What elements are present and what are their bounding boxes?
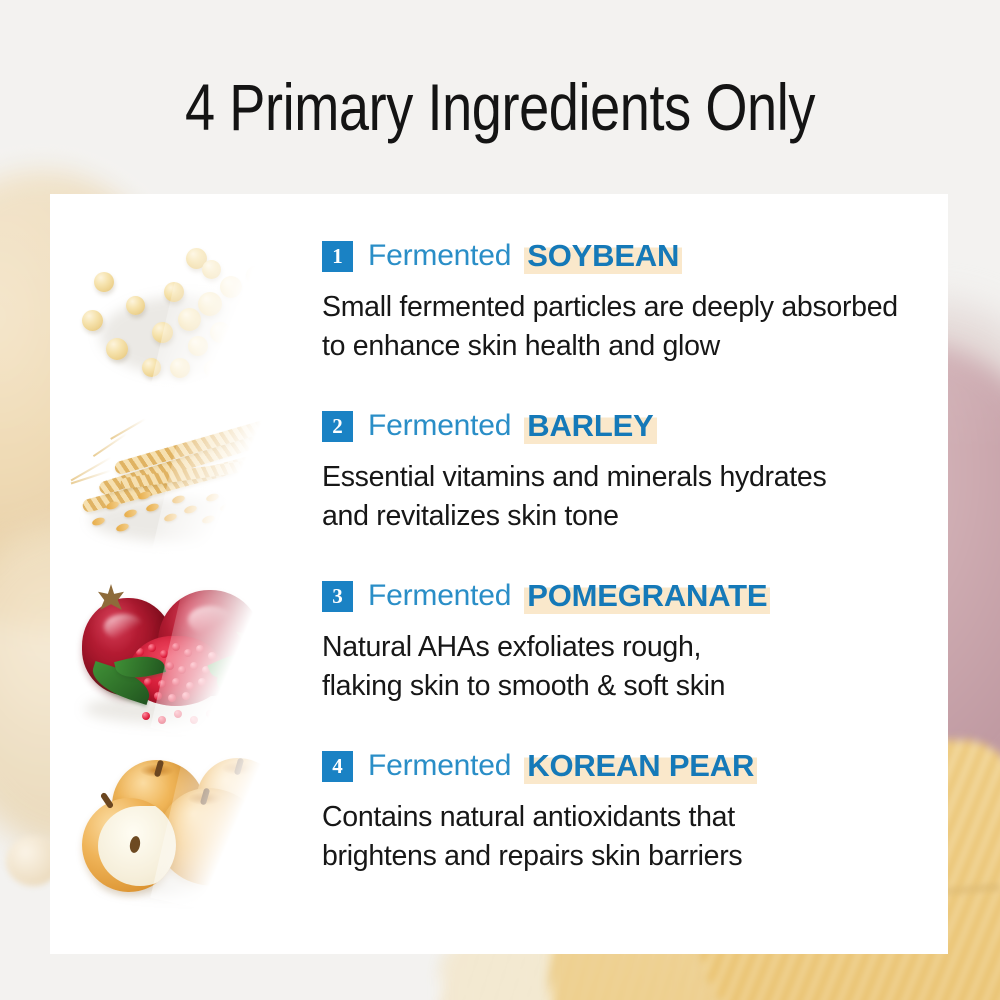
ingredient-prefix: Fermented [368, 749, 511, 783]
ingredient-name: SOYBEAN [524, 238, 682, 274]
ingredient-row-soybean: 1 Fermented SOYBEAN Small fermented part… [50, 236, 948, 406]
ingredient-name: BARLEY [524, 408, 656, 444]
pomegranate-text-block: 3 Fermented POMEGRANATE Natural AHAs exf… [322, 576, 942, 707]
ingredient-row-korean-pear: 4 Fermented KOREAN PEAR Contains natural… [50, 746, 948, 916]
ingredient-number-badge: 2 [322, 411, 353, 442]
description-line: Essential vitamins and minerals hydrates [322, 458, 942, 497]
description-line: Small fermented particles are deeply abs… [322, 288, 942, 327]
pomegranate-description: Natural AHAs exfoliates rough, flaking s… [322, 628, 942, 707]
korean-pear-text-block: 4 Fermented KOREAN PEAR Contains natural… [322, 746, 942, 877]
barley-photo [60, 406, 310, 571]
ingredient-number-badge: 1 [322, 241, 353, 272]
korean-pear-heading: 4 Fermented KOREAN PEAR [322, 746, 942, 786]
pomegranate-photo [60, 576, 310, 741]
description-line: flaking skin to smooth & soft skin [322, 667, 942, 706]
description-line: brightens and repairs skin barriers [322, 837, 942, 876]
barley-heading: 2 Fermented BARLEY [322, 406, 942, 446]
ingredient-number-badge: 3 [322, 581, 353, 612]
description-line: to enhance skin health and glow [322, 327, 942, 366]
ingredient-row-barley: 2 Fermented BARLEY Essential vitamins an… [50, 406, 948, 576]
barley-text-block: 2 Fermented BARLEY Essential vitamins an… [322, 406, 942, 537]
ingredient-name: POMEGRANATE [524, 578, 770, 614]
ingredient-row-pomegranate: 3 Fermented POMEGRANATE Natural AHAs exf… [50, 576, 948, 746]
infographic-stage: 4 Primary Ingredients Only [0, 0, 1000, 1000]
ingredient-prefix: Fermented [368, 239, 511, 273]
description-line: and revitalizes skin tone [322, 497, 942, 536]
korean-pear-description: Contains natural antioxidants that brigh… [322, 798, 942, 877]
barley-description: Essential vitamins and minerals hydrates… [322, 458, 942, 537]
korean-pear-photo [60, 746, 310, 911]
soybean-description: Small fermented particles are deeply abs… [322, 288, 942, 367]
pomegranate-heading: 3 Fermented POMEGRANATE [322, 576, 942, 616]
description-line: Contains natural antioxidants that [322, 798, 942, 837]
soybean-photo [60, 236, 310, 401]
ingredient-number-badge: 4 [322, 751, 353, 782]
ingredient-prefix: Fermented [368, 579, 511, 613]
ingredient-name: KOREAN PEAR [524, 748, 757, 784]
description-line: Natural AHAs exfoliates rough, [322, 628, 942, 667]
soybean-heading: 1 Fermented SOYBEAN [322, 236, 942, 276]
ingredients-card: 1 Fermented SOYBEAN Small fermented part… [50, 194, 948, 954]
soybean-text-block: 1 Fermented SOYBEAN Small fermented part… [322, 236, 942, 367]
page-title: 4 Primary Ingredients Only [90, 74, 910, 140]
ingredient-prefix: Fermented [368, 409, 511, 443]
